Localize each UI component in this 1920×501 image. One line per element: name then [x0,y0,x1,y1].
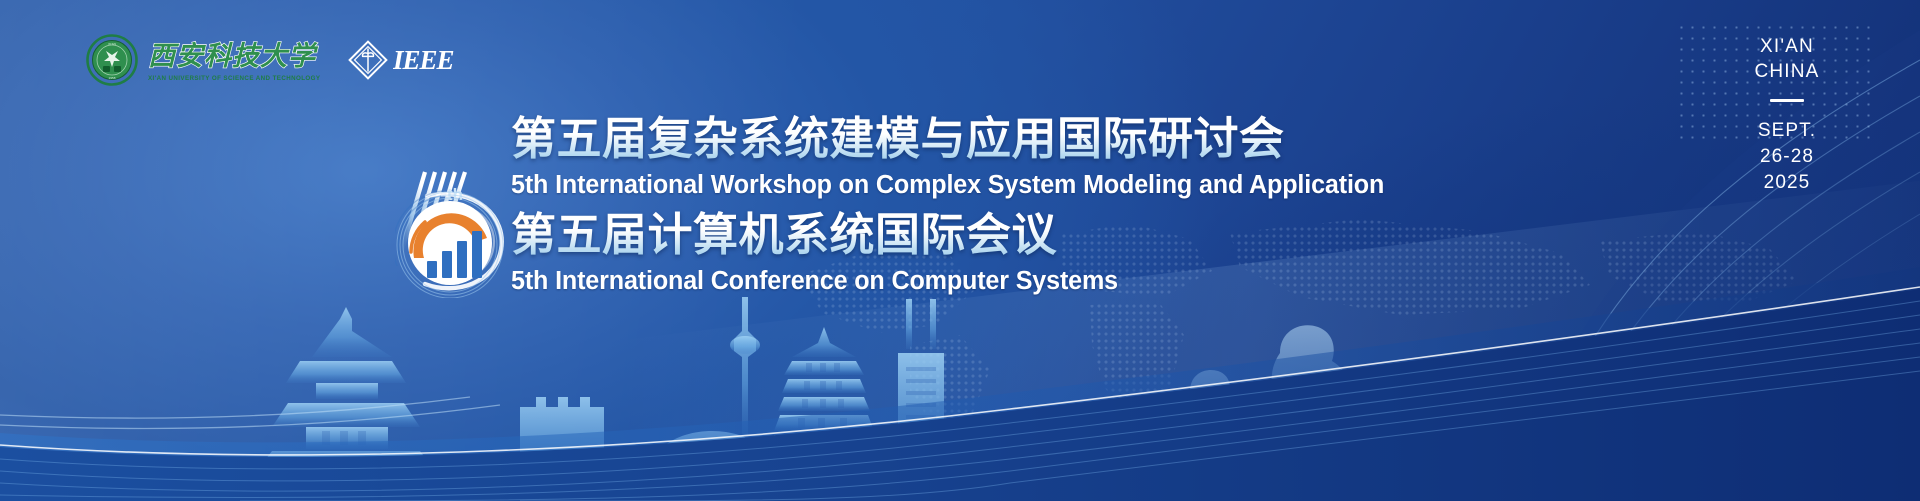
conference-title-en: 5th International Conference on Computer… [511,266,1329,296]
svg-text:IEEE: IEEE [393,45,454,75]
university-seal-icon: XI'AN 1958 [86,34,138,86]
conference-banner: XI'AN 1958 西安科技大学 XI'AN UNIVERSITY OF SC… [0,0,1920,501]
divider-rule [1770,99,1804,102]
conference-title-cn: 第五届计算机系统国际会议 [511,209,1341,261]
svg-text:XI'AN: XI'AN [108,42,116,46]
days-label: 26-28 [1760,144,1814,170]
university-name-en: XI'AN UNIVERSITY OF SCIENCE AND TECHNOLO… [148,74,326,81]
svg-text:1958: 1958 [109,76,116,80]
logo-row: XI'AN 1958 西安科技大学 XI'AN UNIVERSITY OF SC… [86,30,491,90]
growth-chart-circle-icon [395,188,505,298]
city-label: XI'AN [1760,34,1814,59]
svg-text:西安科技大学: 西安科技大学 [148,41,319,71]
country-label: CHINA [1754,59,1819,84]
university-name-cn: 西安科技大学 [148,39,326,73]
ieee-wordmark: IEEE [393,45,491,75]
ieee-logo[interactable]: IEEE [348,40,491,80]
workshop-title-en: 5th International Workshop on Complex Sy… [511,170,1329,200]
date-location-panel: XI'AN CHINA SEPT. 26-28 2025 [1712,34,1862,216]
university-logo[interactable]: XI'AN 1958 西安科技大学 XI'AN UNIVERSITY OF SC… [86,34,326,86]
xian-skyline-silhouette-icon [0,291,1920,501]
ieee-diamond-icon [348,40,388,80]
month-label: SEPT. [1758,118,1816,144]
title-block: 第五届复杂系统建模与应用国际研讨会 5th International Work… [511,113,1341,296]
terracotta-warriors-icon [1174,325,1366,499]
workshop-title-cn: 第五届复杂系统建模与应用国际研讨会 [511,113,1341,165]
year-label: 2025 [1764,170,1811,196]
